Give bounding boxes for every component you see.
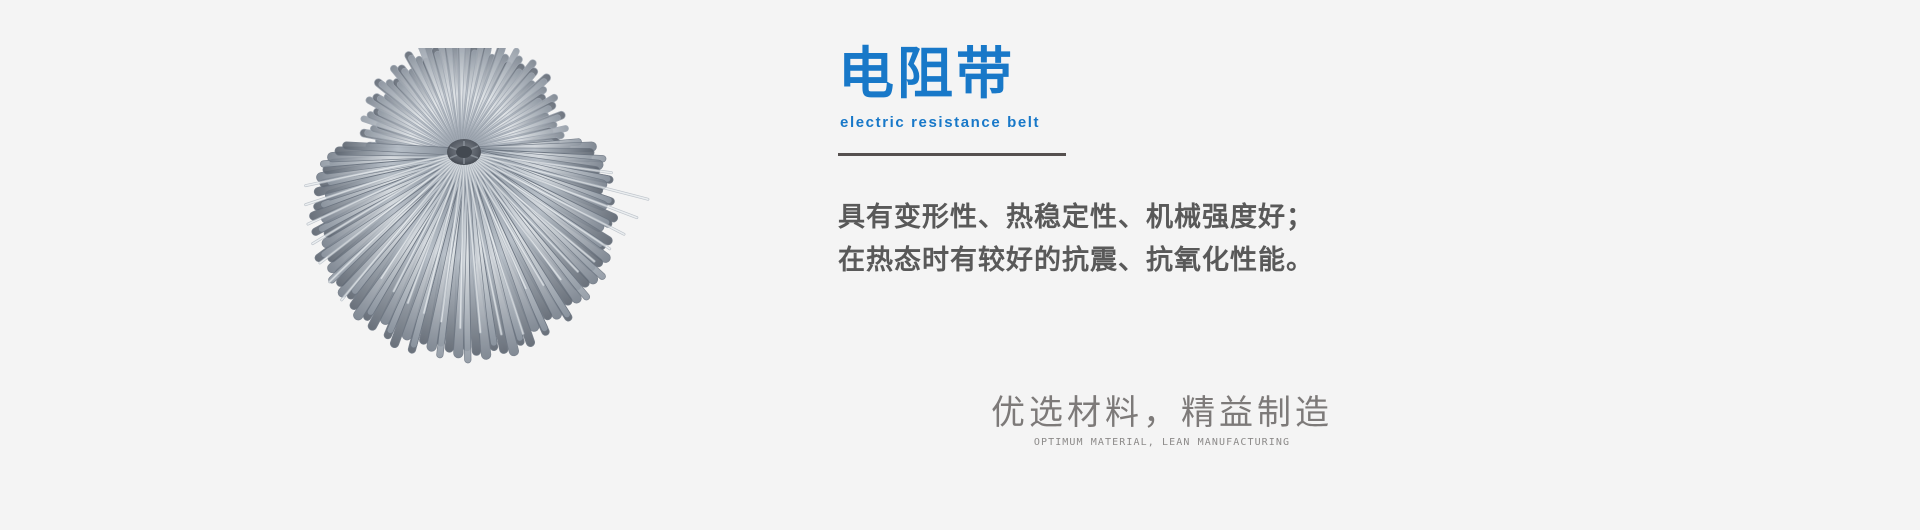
page-title: 电阻带 xyxy=(838,44,1738,106)
product-image xyxy=(288,48,660,388)
slogan-english: OPTIMUM MATERIAL, LEAN MANUFACTURING xyxy=(952,436,1372,450)
banner-content: 电阻带 electric resistance belt 具有变形性、热稳定性、… xyxy=(838,44,1738,282)
page-subtitle: electric resistance belt xyxy=(840,114,1738,131)
description-block: 具有变形性、热稳定性、机械强度好； 在热态时有较好的抗震、抗氧化性能。 xyxy=(838,196,1738,282)
ribbon-fan-lower xyxy=(304,138,649,363)
title-divider xyxy=(838,153,1066,156)
description-line-2: 在热态时有较好的抗震、抗氧化性能。 xyxy=(838,239,1738,282)
resistance-belt-illustration xyxy=(288,48,660,388)
slogan-chinese: 优选材料，精益制造 xyxy=(952,392,1372,434)
ribbon-hub xyxy=(447,139,481,165)
slogan-block: 优选材料，精益制造 OPTIMUM MATERIAL, LEAN MANUFAC… xyxy=(952,392,1372,450)
product-banner: 电阻带 electric resistance belt 具有变形性、热稳定性、… xyxy=(0,0,1920,530)
description-line-1: 具有变形性、热稳定性、机械强度好； xyxy=(838,196,1738,239)
